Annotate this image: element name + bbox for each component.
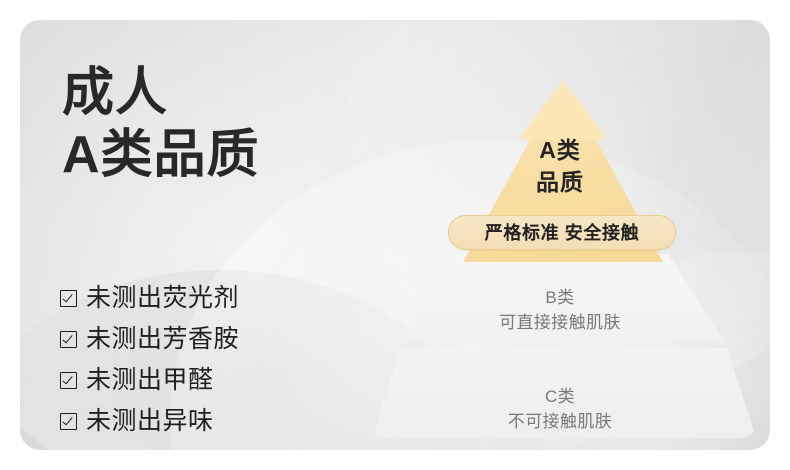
checkbox-checked-icon — [60, 372, 77, 389]
pyramid-tier-a-text: A类 品质 — [350, 134, 770, 198]
headline-line-1: 成人 — [62, 62, 260, 124]
product-quality-card: 成人 A类品质 未测出荧光剂 未测出芳香胺 未测出甲醛 未测出异味 — [20, 20, 770, 450]
pyramid-tier-b-text: B类 可直接接触肌肤 — [350, 285, 770, 335]
pyramid-tier-b-title: B类 — [350, 285, 770, 310]
pyramid-tier-a-title: A类 — [350, 134, 770, 166]
list-item: 未测出芳香胺 — [60, 319, 239, 360]
list-item-label: 未测出芳香胺 — [86, 327, 239, 352]
headline: 成人 A类品质 — [62, 62, 260, 186]
pyramid-tier-c-subtitle: 不可接触肌肤 — [350, 409, 770, 434]
checkbox-checked-icon — [60, 413, 77, 430]
test-result-checklist: 未测出荧光剂 未测出芳香胺 未测出甲醛 未测出异味 — [60, 278, 239, 442]
list-item-label: 未测出甲醛 — [86, 368, 214, 393]
pyramid-tier-b-subtitle: 可直接接触肌肤 — [350, 310, 770, 335]
list-item-label: 未测出荧光剂 — [86, 286, 239, 311]
strict-standard-banner: 严格标准 安全接触 — [448, 215, 676, 250]
list-item-label: 未测出异味 — [86, 409, 214, 434]
promo-banner: 成人 A类品质 未测出荧光剂 未测出芳香胺 未测出甲醛 未测出异味 — [0, 0, 790, 470]
pyramid-tier-a-apex-cap — [518, 80, 608, 140]
list-item: 未测出甲醛 — [60, 360, 239, 401]
pyramid-tier-a-subtitle: 品质 — [350, 166, 770, 198]
quality-grade-pyramid: C类 不可接触肌肤 B类 可直接接触肌肤 A类 品质 严格标准 安全接触 — [350, 42, 770, 442]
list-item: 未测出异味 — [60, 401, 239, 442]
checkbox-checked-icon — [60, 331, 77, 348]
headline-line-2: A类品质 — [62, 124, 260, 186]
pyramid-tier-c-title: C类 — [350, 384, 770, 409]
checkbox-checked-icon — [60, 290, 77, 307]
pyramid-tier-c-text: C类 不可接触肌肤 — [350, 384, 770, 434]
list-item: 未测出荧光剂 — [60, 278, 239, 319]
strict-standard-banner-label: 严格标准 安全接触 — [485, 224, 639, 242]
